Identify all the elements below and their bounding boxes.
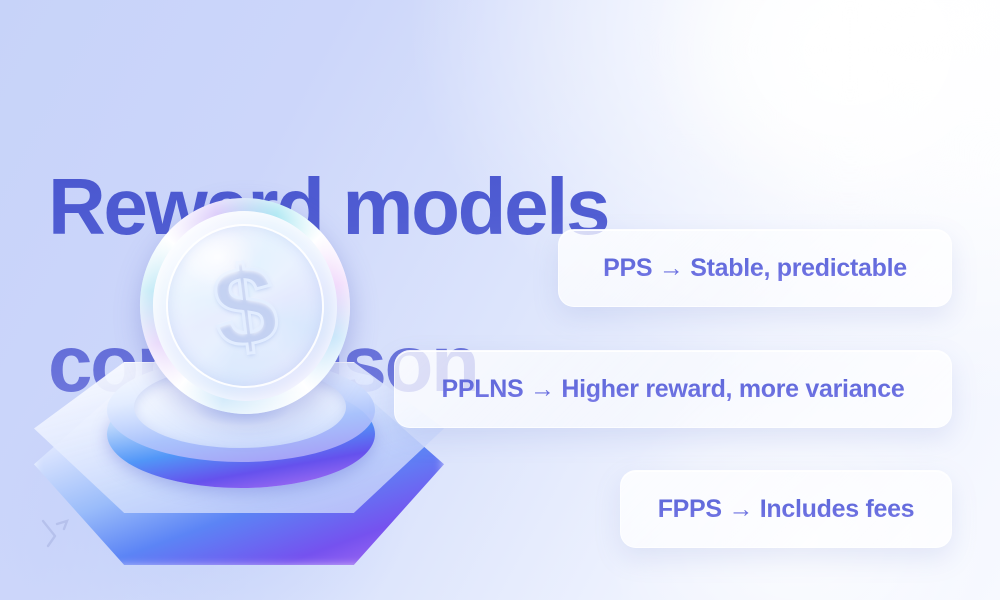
reward-model-card-text: PPS → Stable, predictable: [603, 254, 907, 283]
reward-model-card-text: FPPS → Includes fees: [658, 495, 915, 524]
brand-logo-watermark-icon: [38, 516, 72, 550]
reward-models-comparison-banner: Reward models comparison $ PPS → Stable,…: [0, 0, 1000, 600]
reward-model-card-pps[interactable]: PPS → Stable, predictable: [558, 229, 952, 307]
reward-model-card-text: PPLNS → Higher reward, more variance: [442, 375, 905, 404]
reward-model-card-pplns[interactable]: PPLNS → Higher reward, more variance: [394, 350, 952, 428]
reward-model-card-fpps[interactable]: FPPS → Includes fees: [620, 470, 952, 548]
dollar-coin-icon: $: [128, 186, 363, 426]
